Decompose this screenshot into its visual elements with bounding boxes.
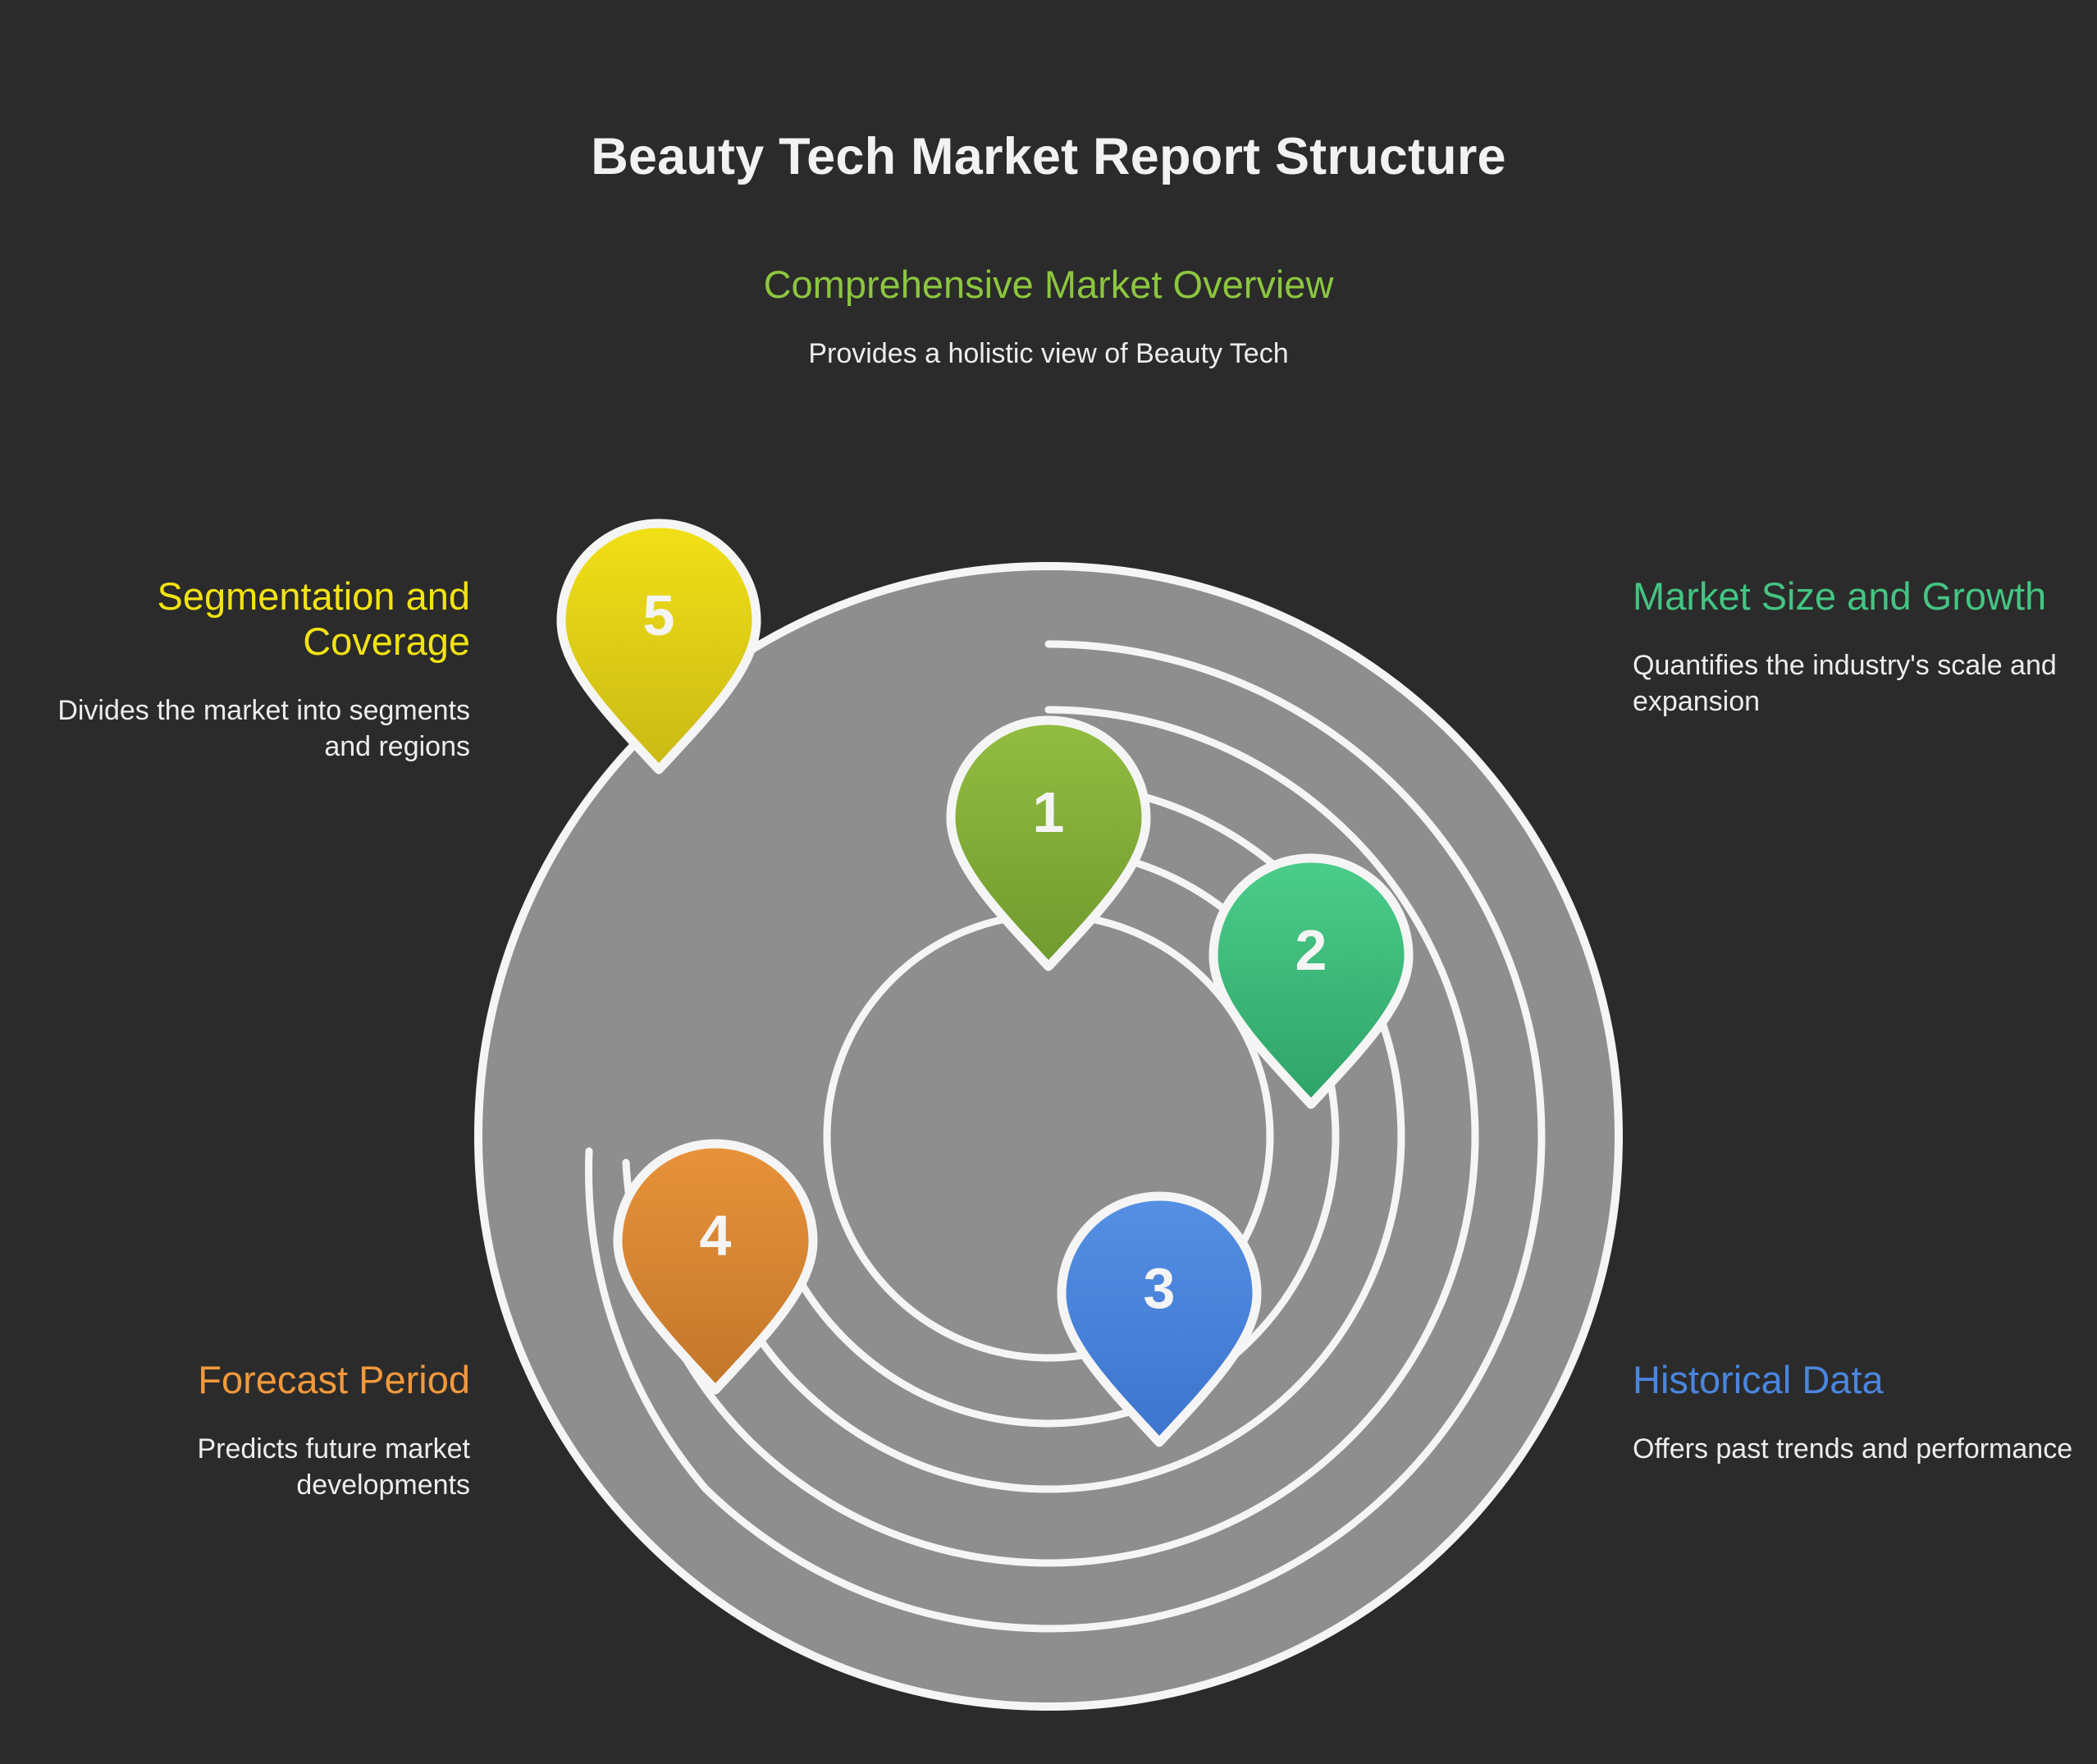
pin-shape-icon bbox=[1057, 1191, 1262, 1447]
map-pin-5[interactable]: 5 bbox=[556, 519, 761, 775]
callout-headline: Forecast Period bbox=[23, 1358, 470, 1403]
callout-comprehensive-market-overview: Comprehensive Market Overview Provides a… bbox=[720, 263, 1377, 372]
callout-headline: Market Size and Growth bbox=[1633, 574, 2080, 619]
map-pin-4[interactable]: 4 bbox=[613, 1139, 818, 1395]
infographic-canvas: Beauty Tech Market Report Structure bbox=[0, 0, 2097, 1764]
pin-shape-icon bbox=[946, 715, 1151, 971]
pin-shape-icon bbox=[1208, 853, 1414, 1109]
pin-shape-icon bbox=[556, 519, 761, 775]
map-pin-1[interactable]: 1 bbox=[946, 715, 1151, 971]
pin-shape-icon bbox=[613, 1139, 818, 1395]
callout-description: Offers past trends and performance bbox=[1633, 1431, 2080, 1467]
callout-headline: Comprehensive Market Overview bbox=[720, 263, 1377, 308]
map-pin-3[interactable]: 3 bbox=[1057, 1191, 1262, 1447]
callout-headline: Segmentation and Coverage bbox=[23, 574, 470, 665]
callout-headline: Historical Data bbox=[1633, 1358, 2080, 1403]
callout-description: Predicts future market developments bbox=[23, 1431, 470, 1503]
callout-historical-data: Historical Data Offers past trends and p… bbox=[1633, 1358, 2080, 1467]
callout-description: Provides a holistic view of Beauty Tech bbox=[720, 336, 1377, 372]
callout-forecast-period: Forecast Period Predicts future market d… bbox=[23, 1358, 470, 1503]
page-title: Beauty Tech Market Report Structure bbox=[0, 127, 2097, 186]
callout-description: Divides the market into segments and reg… bbox=[23, 692, 470, 765]
callout-market-size-and-growth: Market Size and Growth Quantifies the in… bbox=[1633, 574, 2080, 720]
callout-description: Quantifies the industry's scale and expa… bbox=[1633, 647, 2080, 720]
map-pin-2[interactable]: 2 bbox=[1208, 853, 1414, 1109]
callout-segmentation-and-coverage: Segmentation and Coverage Divides the ma… bbox=[23, 574, 470, 765]
